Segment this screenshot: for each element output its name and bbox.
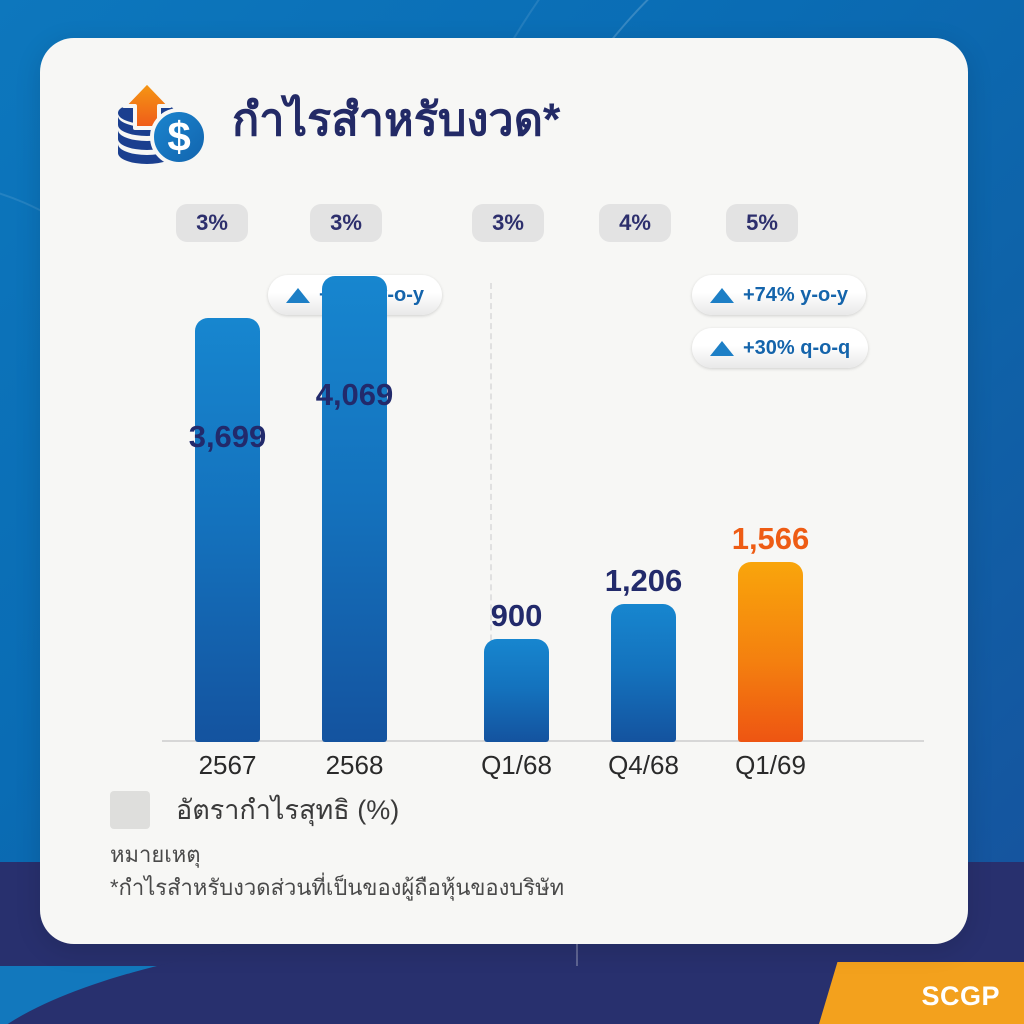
bar-value-q1-68: 900	[444, 598, 589, 634]
bar-value-2568: 4,069	[282, 377, 427, 413]
net-margin-badge-2567: 3%	[176, 204, 248, 242]
category-label-q1-69: Q1/69	[698, 750, 843, 781]
net-margin-badge-q1-69: 5%	[726, 204, 798, 242]
category-label-2567: 2567	[155, 750, 300, 781]
bar-2568	[322, 276, 387, 742]
net-margin-badge-q1-68: 3%	[472, 204, 544, 242]
triangle-up-icon	[710, 341, 734, 356]
content-card: $ กำไรสำหรับงวด* 3% 3% 3% 4% 5% +10% y-o…	[40, 38, 968, 944]
net-margin-badge-q4-68: 4%	[599, 204, 671, 242]
bar-column-q1-68	[484, 242, 549, 742]
infographic-stage: SCGP	[0, 0, 1024, 1024]
triangle-up-icon	[286, 288, 310, 303]
legend-swatch-net-margin	[110, 791, 150, 829]
bar-column-q4-68	[611, 242, 676, 742]
net-margin-badge-2568: 3%	[310, 204, 382, 242]
footnote-heading: หมายเหตุ	[110, 838, 564, 871]
chart-plot-area: 3% 3% 3% 4% 5% +10% y-o-y +74% y-o-y +30…	[40, 38, 968, 944]
bar-value-2567: 3,699	[155, 419, 300, 455]
bar-q1-69	[738, 562, 803, 742]
bar-2567	[195, 318, 260, 742]
category-label-q1-68: Q1/68	[444, 750, 589, 781]
footnote-text: *กำไรสำหรับงวดส่วนที่เป็นของผู้ถือหุ้นขอ…	[110, 871, 564, 904]
bar-q1-68	[484, 639, 549, 742]
chart-legend: อัตรากำไรสุทธิ (%)	[110, 788, 399, 831]
bar-q4-68	[611, 604, 676, 742]
category-label-q4-68: Q4/68	[571, 750, 716, 781]
bar-value-q1-69: 1,566	[698, 521, 843, 557]
bar-value-q4-68: 1,206	[571, 563, 716, 599]
legend-label-net-margin: อัตรากำไรสุทธิ (%)	[176, 788, 399, 831]
bar-column-q1-69	[738, 242, 803, 742]
category-label-2568: 2568	[282, 750, 427, 781]
footnotes: หมายเหตุ *กำไรสำหรับงวดส่วนที่เป็นของผู้…	[110, 838, 564, 904]
scgp-logo: SCGP	[921, 981, 1000, 1012]
bar-column-2567	[195, 242, 260, 742]
triangle-up-icon	[710, 288, 734, 303]
bar-column-2568	[322, 242, 387, 742]
